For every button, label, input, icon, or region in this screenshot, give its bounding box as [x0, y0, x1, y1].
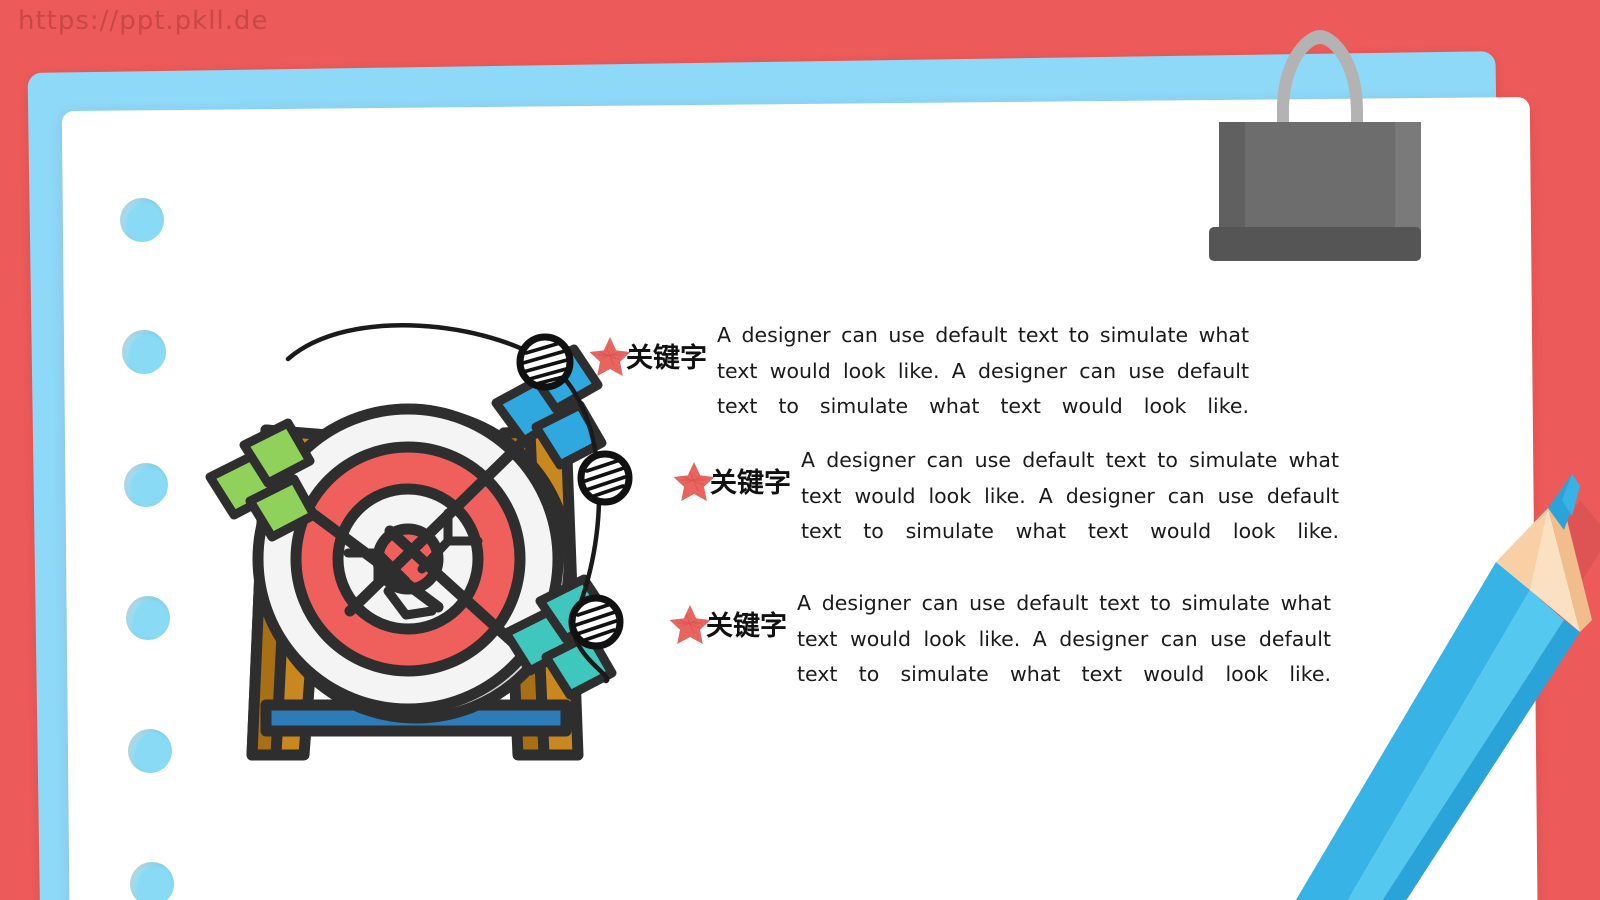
keyword-badge[interactable]: 关键字	[588, 334, 707, 376]
keyword-label: 关键字	[626, 336, 707, 375]
body-paragraph: A designer can use default text to simul…	[797, 586, 1331, 693]
keyword-badge[interactable]: 关键字	[668, 602, 787, 644]
body-paragraph: A designer can use default text to simul…	[717, 318, 1249, 425]
slide-canvas: https://ppt.pkll.de	[0, 0, 1600, 900]
pencil-icon	[1280, 470, 1600, 900]
content-row: 关键字 A designer can use default text to s…	[588, 318, 1288, 425]
keyword-badge[interactable]: 关键字	[672, 459, 791, 501]
keyword-label: 关键字	[710, 461, 791, 500]
body-paragraph: A designer can use default text to simul…	[801, 443, 1339, 550]
keyword-label: 关键字	[706, 604, 787, 643]
content-row: 关键字 A designer can use default text to s…	[672, 443, 1372, 550]
content-row: 关键字 A designer can use default text to s…	[668, 586, 1368, 693]
